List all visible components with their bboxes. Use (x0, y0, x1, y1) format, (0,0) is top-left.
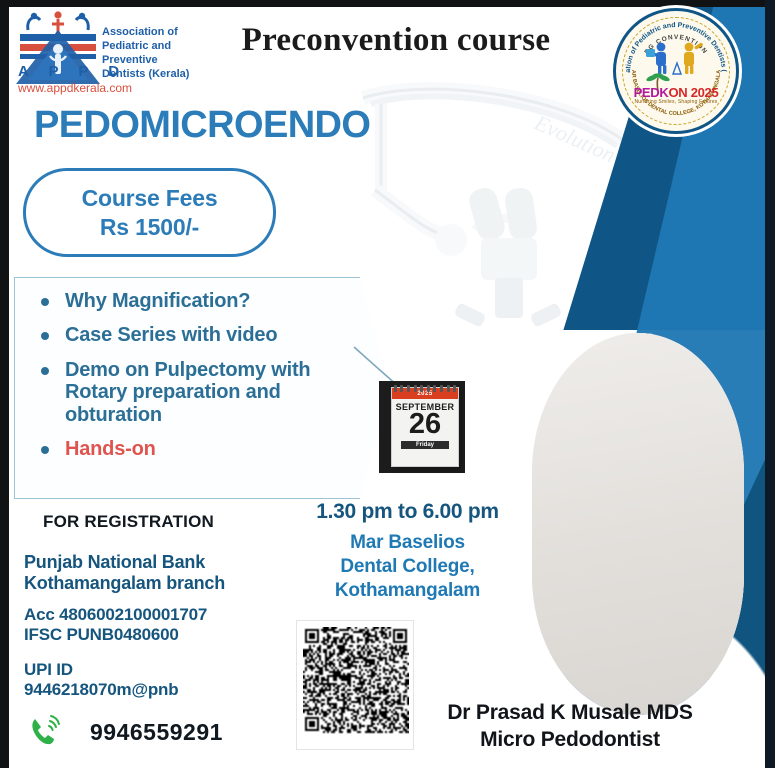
contact-phone-row[interactable]: 9946559291 (26, 712, 223, 752)
speaker-designation: Micro Pedodontist (480, 728, 660, 751)
calendar-rings-icon (392, 385, 458, 391)
event-time: 1.30 pm to 6.00 pm (300, 500, 515, 524)
venue-line-1: Mar Baselios (350, 532, 465, 553)
svg-text:Preventive: Preventive (102, 54, 158, 66)
registration-qr-code[interactable] (296, 620, 414, 750)
speaker-photo (532, 333, 744, 715)
upi-details: UPI ID 9446218070m@pnb (24, 660, 178, 701)
event-date-calendar: 2025 SEPTEMBER 26 Friday (391, 387, 463, 469)
calendar-card: 2025 SEPTEMBER 26 Friday (391, 387, 459, 467)
topic-item: Why Magnification? (39, 290, 365, 312)
fees-amount: Rs 1500/- (100, 214, 199, 241)
calendar-day: 26 (392, 411, 458, 439)
appd-logo: A P P D Association of Pediatric and Pre… (14, 8, 199, 96)
calendar-weekday: Friday (401, 441, 449, 449)
svg-text:Association of: Association of (102, 26, 178, 38)
badge-title-suffix: ON 2025 (668, 85, 718, 100)
bank-name: Punjab National Bank Kothamangalam branc… (24, 552, 225, 594)
svg-text:Dentists (Kerala): Dentists (Kerala) (102, 68, 190, 80)
badge-title: PEDKON 2025 (616, 85, 736, 100)
course-name: PEDOMICROENDO (34, 104, 370, 147)
top-edge-bar (0, 0, 775, 7)
topics-list: Why Magnification?Case Series with video… (15, 278, 389, 460)
upi-id: 9446218070m@pnb (24, 680, 178, 699)
bank-line-2: Kothamangalam branch (24, 573, 225, 593)
topic-item: Hands-on (39, 438, 365, 460)
bank-line-1: Punjab National Bank (24, 552, 205, 572)
right-edge-bar (765, 0, 775, 768)
svg-text:Pediatric and: Pediatric and (102, 40, 171, 52)
speaker-name: Dr Prasad K Musale MDS (447, 701, 692, 724)
phone-icon (26, 712, 66, 752)
topic-item: Case Series with video (39, 324, 365, 346)
fees-label: Course Fees (82, 185, 218, 212)
qr-canvas (303, 627, 409, 745)
photo-background (532, 333, 744, 715)
left-edge-bar (0, 0, 9, 768)
topic-item: Demo on Pulpectomy with Rotary preparati… (39, 359, 365, 426)
pedkon-badge: Association of Pediatric and Preventive … (613, 8, 739, 134)
event-venue: Mar Baselios Dental College, Kothamangal… (300, 531, 515, 602)
badge-tagline: Nurturing Smiles, Shaping Futures (616, 99, 736, 105)
venue-line-3: Kothamangalam (335, 580, 480, 601)
bank-account-details: Acc 4806002100001707 IFSC PUNB0480600 (24, 605, 207, 646)
speaker-name-block: Dr Prasad K Musale MDS Micro Pedodontist (420, 700, 720, 754)
poster-canvas: Evolution XR6 SEILER (0, 0, 775, 768)
phone-number: 9946559291 (90, 719, 223, 746)
badge-title-prefix: PEDK (634, 85, 669, 100)
page-title: Preconvention course (196, 22, 596, 59)
registration-heading: FOR REGISTRATION (43, 512, 214, 532)
account-number: Acc 4806002100001707 (24, 605, 207, 624)
topics-box: Why Magnification?Case Series with video… (14, 277, 390, 499)
upi-label: UPI ID (24, 660, 73, 679)
course-fees-badge: Course Fees Rs 1500/- (23, 168, 276, 257)
svg-text:www.appdkerala.com: www.appdkerala.com (17, 81, 132, 95)
venue-line-2: Dental College, (340, 556, 474, 577)
ifsc-code: IFSC PUNB0480600 (24, 625, 179, 644)
